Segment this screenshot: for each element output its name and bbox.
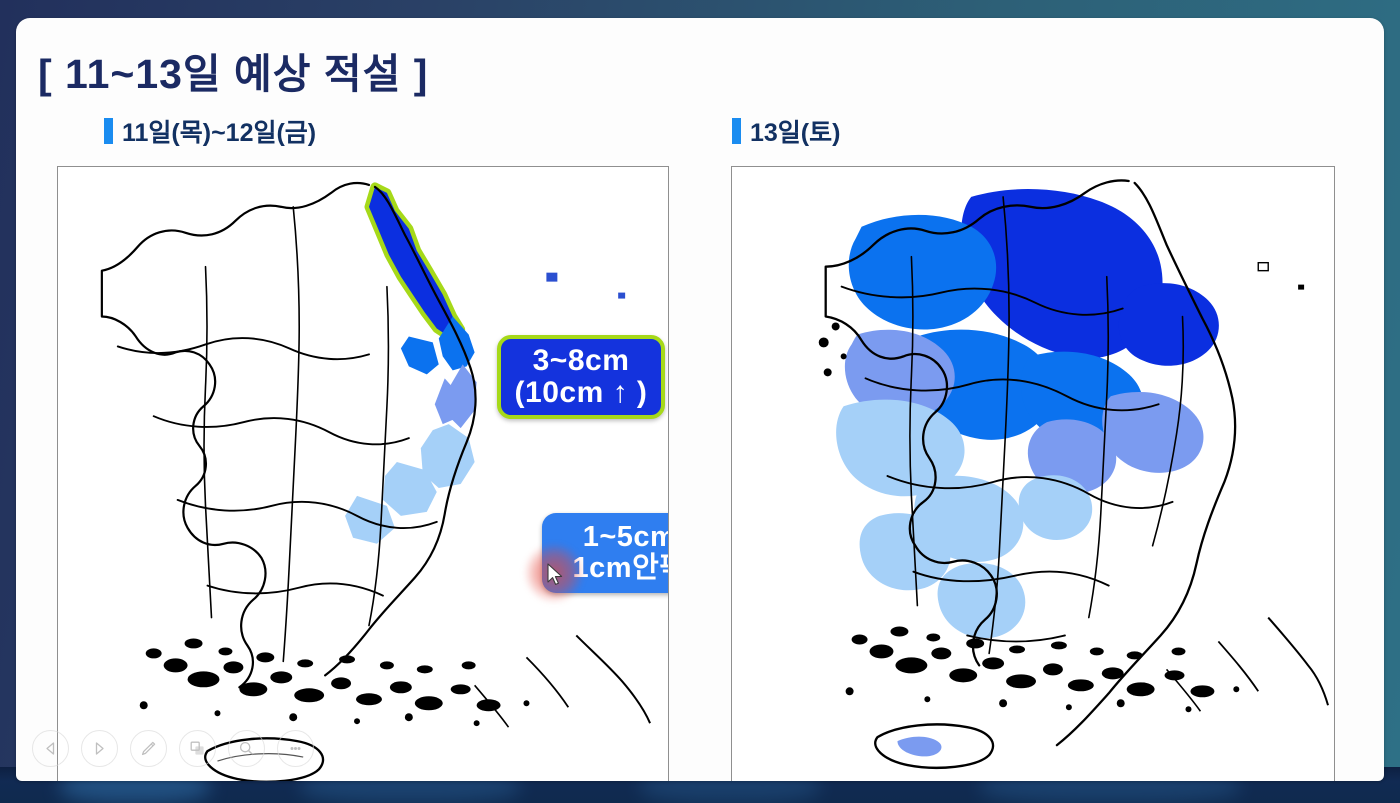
callout-line2: 1cm안팎 — [573, 553, 669, 584]
callout-1-5cm-1cm-around[interactable]: 1~5cm 1cm안팎 — [542, 513, 669, 593]
snow-shading-left — [345, 187, 477, 544]
south-coast-islands-left — [140, 638, 530, 726]
pen-button[interactable] — [130, 730, 167, 767]
korea-map-left-svg — [58, 167, 668, 781]
ulleungdo-marker-right — [1258, 263, 1268, 271]
right-panel-header-label: 13일(토) — [750, 113, 840, 149]
east-extra-coast-left — [576, 635, 650, 723]
ellipsis-icon — [286, 739, 305, 758]
korea-map-right-svg — [732, 167, 1334, 781]
callout-line1: 1~5cm — [583, 522, 669, 553]
next-button[interactable] — [81, 730, 118, 767]
triangle-left-icon — [43, 741, 58, 756]
callout-line1: 3~8cm — [533, 345, 630, 377]
left-panel-header-label: 11일(목)~12일(금) — [122, 113, 316, 149]
triangle-right-icon — [92, 741, 107, 756]
bullet-marker-left — [104, 118, 113, 144]
snow-map-nov11-12[interactable]: 3~8cm (10cm ↑ ) 1~5cm 1cm안팎 — [57, 166, 669, 781]
callout-3-8cm-10cm-up[interactable]: 3~8cm (10cm ↑ ) — [497, 335, 665, 419]
slide-toolbar[interactable] — [32, 730, 314, 767]
slide-card: [ 11~13일 예상 적설 ] 11일(목)~12일(금) 13일(토) — [16, 18, 1384, 781]
dokdo-marker-right — [1298, 285, 1304, 290]
bullet-marker-right — [732, 118, 741, 144]
dokdo-marker-left — [618, 293, 625, 299]
magnifier-icon — [238, 740, 255, 757]
duplicate-button[interactable] — [179, 730, 216, 767]
ulleungdo-marker-left — [546, 273, 557, 282]
east-extra-coast-right — [1268, 618, 1328, 706]
left-panel-header: 11일(목)~12일(금) — [104, 113, 316, 149]
screen: [ 11~13일 예상 적설 ] 11일(목)~12일(금) 13일(토) — [0, 0, 1400, 803]
snow-map-nov13[interactable]: 3~8cm 5~10cm 1~5cm (서울) 1~3cm — [731, 166, 1335, 781]
pen-icon — [140, 740, 157, 757]
more-button[interactable] — [277, 730, 314, 767]
page-title: [ 11~13일 예상 적설 ] — [38, 40, 428, 100]
right-panel-header: 13일(토) — [732, 113, 840, 149]
snow-shading-right — [836, 189, 1219, 638]
zoom-button[interactable] — [228, 730, 265, 767]
copy-icon — [189, 740, 206, 757]
callout-line2: (10cm ↑ ) — [515, 377, 648, 409]
previous-button[interactable] — [32, 730, 69, 767]
jeju-snow-patch-right — [897, 737, 941, 757]
